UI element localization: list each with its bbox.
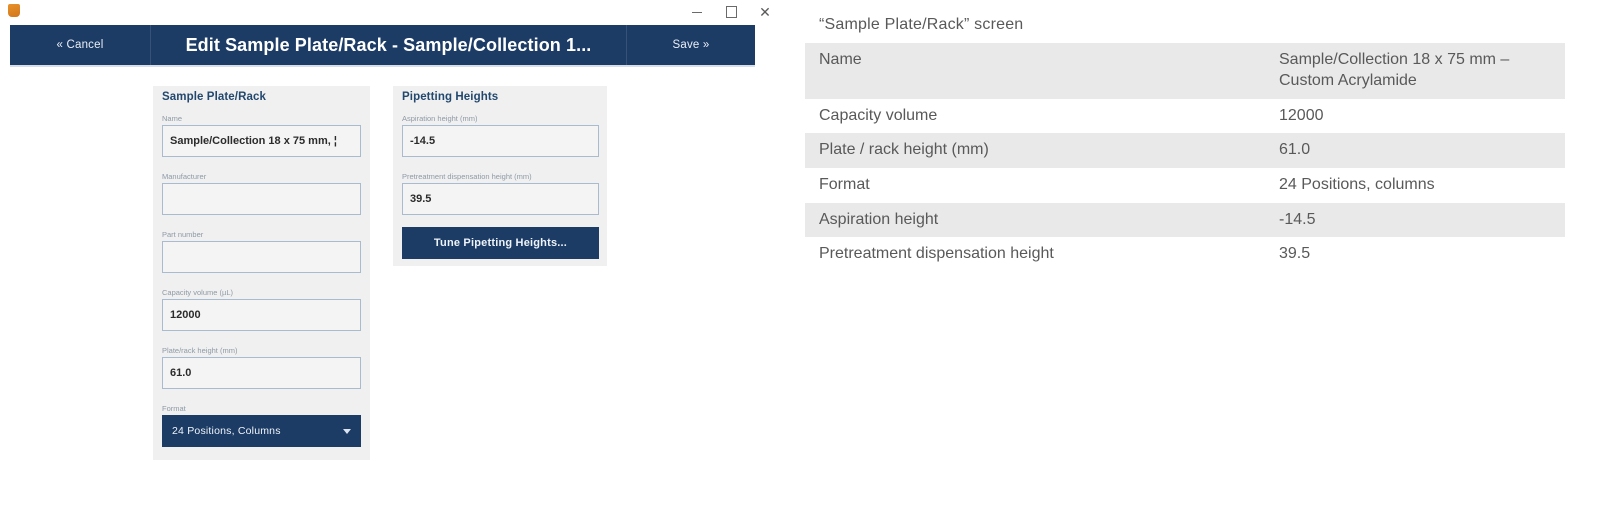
field-manufacturer-label: Manufacturer: [162, 172, 361, 181]
field-name: Name Sample/Collection 18 x 75 mm, ¦: [162, 114, 361, 157]
summary-table-header-row: “Sample Plate/Rack” screen: [805, 8, 1565, 43]
field-part-number-label: Part number: [162, 230, 361, 239]
table-row: Name Sample/Collection 18 x 75 mm – Cust…: [805, 43, 1565, 99]
field-capacity-volume-label: Capacity volume (µL): [162, 288, 361, 297]
field-plate-rack-height: Plate/rack height (mm) 61.0: [162, 346, 361, 389]
row-value: 61.0: [1265, 133, 1565, 168]
summary-table: “Sample Plate/Rack” screen Name Sample/C…: [805, 8, 1565, 272]
minimize-icon[interactable]: [680, 1, 714, 23]
row-key: Format: [805, 168, 1265, 203]
manufacturer-input[interactable]: [162, 183, 361, 215]
field-manufacturer: Manufacturer: [162, 172, 361, 215]
tune-pipetting-heights-button[interactable]: Tune Pipetting Heights...: [402, 227, 599, 259]
sample-plate-rack-panel: Sample Plate/Rack Name Sample/Collection…: [153, 86, 370, 460]
field-name-label: Name: [162, 114, 361, 123]
window-titlebar: ✕: [0, 0, 790, 24]
window-controls: ✕: [680, 0, 782, 24]
app-icon: [8, 4, 20, 17]
field-capacity-volume: Capacity volume (µL) 12000: [162, 288, 361, 331]
table-row: Capacity volume 12000: [805, 99, 1565, 134]
command-bar: « Cancel Edit Sample Plate/Rack - Sample…: [10, 25, 755, 65]
row-value: 24 Positions, columns: [1265, 168, 1565, 203]
row-value: -14.5: [1265, 203, 1565, 238]
part-number-input[interactable]: [162, 241, 361, 273]
format-select-value: 24 Positions, Columns: [172, 425, 281, 437]
field-part-number: Part number: [162, 230, 361, 273]
row-value: 12000: [1265, 99, 1565, 134]
format-select[interactable]: 24 Positions, Columns: [162, 415, 361, 447]
summary-table-header: “Sample Plate/Rack” screen: [805, 8, 1565, 43]
row-key: Aspiration height: [805, 203, 1265, 238]
pipetting-heights-panel-title: Pipetting Heights: [402, 91, 498, 103]
table-row: Pretreatment dispensation height 39.5: [805, 237, 1565, 272]
name-input[interactable]: Sample/Collection 18 x 75 mm, ¦: [162, 125, 361, 157]
plate-rack-height-input[interactable]: 61.0: [162, 357, 361, 389]
field-pretreatment-dispensation-height-label: Pretreatment dispensation height (mm): [402, 172, 599, 181]
field-aspiration-height-label: Aspiration height (mm): [402, 114, 599, 123]
chevron-down-icon: [343, 429, 351, 434]
row-key: Pretreatment dispensation height: [805, 237, 1265, 272]
pipetting-heights-panel: Pipetting Heights Aspiration height (mm)…: [393, 86, 607, 266]
table-row: Format 24 Positions, columns: [805, 168, 1565, 203]
row-key: Capacity volume: [805, 99, 1265, 134]
aspiration-height-input[interactable]: -14.5: [402, 125, 599, 157]
pretreatment-dispensation-height-input[interactable]: 39.5: [402, 183, 599, 215]
row-value: 39.5: [1265, 237, 1565, 272]
cancel-button[interactable]: « Cancel: [10, 25, 151, 65]
row-key: Name: [805, 43, 1265, 99]
field-aspiration-height: Aspiration height (mm) -14.5: [402, 114, 599, 157]
application-window: ✕ « Cancel Edit Sample Plate/Rack - Samp…: [0, 0, 790, 510]
close-icon[interactable]: ✕: [748, 1, 782, 23]
field-pretreatment-dispensation-height: Pretreatment dispensation height (mm) 39…: [402, 172, 599, 215]
field-plate-rack-height-label: Plate/rack height (mm): [162, 346, 361, 355]
row-value: Sample/Collection 18 x 75 mm – Custom Ac…: [1265, 43, 1565, 99]
maximize-icon[interactable]: [714, 1, 748, 23]
sample-plate-rack-panel-title: Sample Plate/Rack: [162, 91, 266, 103]
page-title: Edit Sample Plate/Rack - Sample/Collecti…: [151, 25, 626, 65]
field-format: Format 24 Positions, Columns: [162, 404, 361, 447]
field-format-label: Format: [162, 404, 361, 413]
table-row: Aspiration height -14.5: [805, 203, 1565, 238]
capacity-volume-input[interactable]: 12000: [162, 299, 361, 331]
save-button[interactable]: Save »: [626, 25, 755, 65]
row-key: Plate / rack height (mm): [805, 133, 1265, 168]
table-row: Plate / rack height (mm) 61.0: [805, 133, 1565, 168]
